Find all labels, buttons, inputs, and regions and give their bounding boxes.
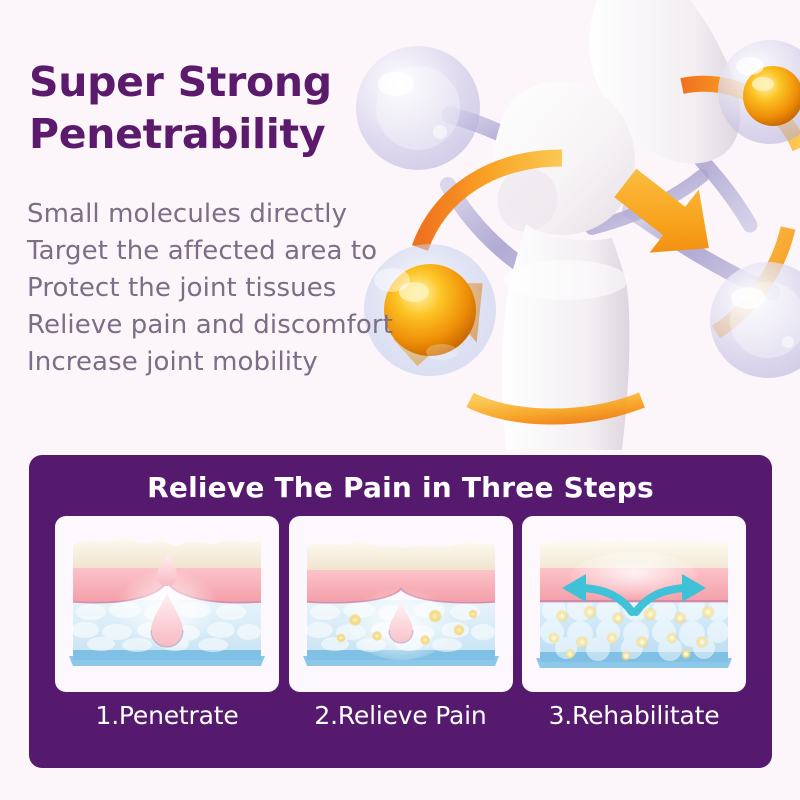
step-cards <box>29 504 772 692</box>
step-card-penetrate <box>55 516 279 692</box>
skin-cross-section-smooth-spreading-arrows-icon <box>522 516 746 692</box>
benefit-line: Protect the joint tissues <box>27 270 427 307</box>
skin-cross-section-droplet-penetrating-icon <box>55 516 279 692</box>
step-caption-rehabilitate: 3.Rehabilitate <box>522 701 746 730</box>
benefit-line: Small molecules directly <box>27 196 427 233</box>
step-caption-penetrate: 1.Penetrate <box>55 701 279 730</box>
benefit-line: Increase joint mobility <box>27 344 427 381</box>
step-card-relieve-pain <box>289 516 513 692</box>
step-card-rehabilitate <box>522 516 746 692</box>
benefit-list: Small molecules directly Target the affe… <box>27 196 427 381</box>
benefit-line: Relieve pain and discomfort <box>27 307 427 344</box>
benefit-line: Target the affected area to <box>27 233 427 270</box>
skin-cross-section-glowing-particles-icon <box>289 516 513 692</box>
page-title: Super Strong Penetrability <box>29 56 389 161</box>
three-steps-panel: Relieve The Pain in Three Steps <box>29 455 772 768</box>
steps-panel-title: Relieve The Pain in Three Steps <box>29 455 772 504</box>
headline-line-2: Penetrability <box>29 108 389 160</box>
headline-line-1: Super Strong <box>29 58 332 106</box>
step-captions: 1.Penetrate 2.Relieve Pain 3.Rehabilitat… <box>29 692 772 730</box>
step-caption-relieve-pain: 2.Relieve Pain <box>289 701 513 730</box>
